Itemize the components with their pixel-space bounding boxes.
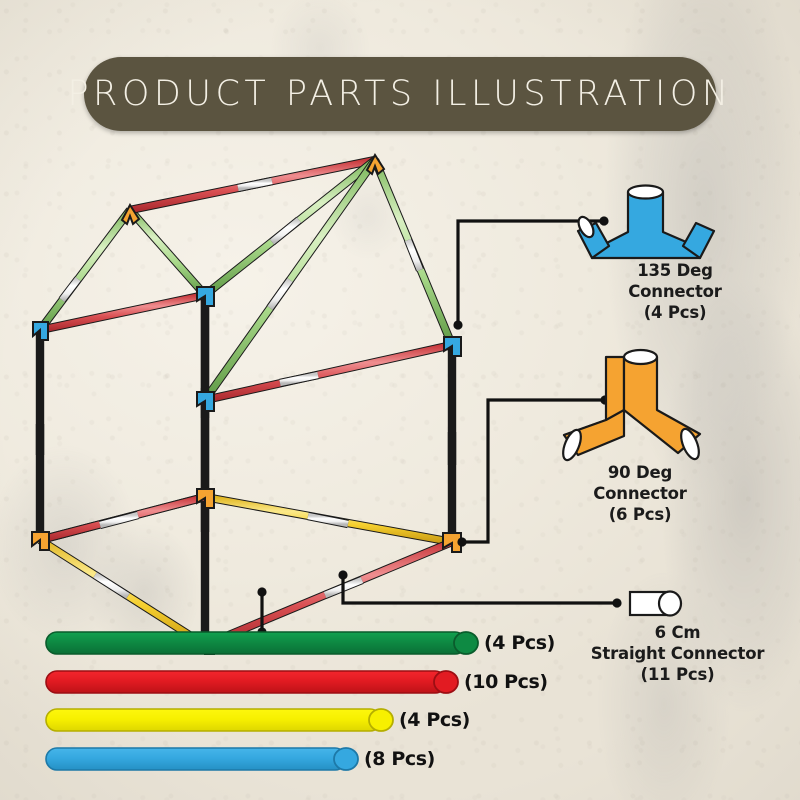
leader-dot: [257, 587, 266, 596]
label-135deg-connector: 135 Deg Connector (4 Pcs): [600, 260, 750, 323]
label-135deg-count: (4 Pcs): [600, 302, 750, 323]
legend-count-red: (10 Pcs): [464, 671, 548, 693]
base-beam-left-yellow: [40, 540, 205, 645]
product-parts-illustration-page: PRODUCT PARTS ILLUSTRATION: [0, 0, 800, 800]
straight-connector-joint: [95, 575, 128, 596]
leader-dot: [612, 598, 621, 607]
straight-connector-joint: [272, 220, 299, 242]
connector-node-90deg: [197, 489, 214, 508]
label-straight-count: (11 Pcs): [570, 664, 785, 685]
legend-count-blue: (8 Pcs): [364, 748, 435, 770]
connector-node-135deg: [33, 322, 48, 340]
label-135deg-line2: Connector: [600, 281, 750, 302]
label-135deg-line1: 135 Deg: [600, 260, 750, 281]
base-beam-front-red: [205, 542, 452, 645]
legend-rod-yellow: [46, 709, 393, 731]
leader-dot: [338, 570, 347, 579]
part-90deg-connector-graphic: [560, 350, 703, 462]
label-90deg-line2: Connector: [565, 483, 715, 504]
rafter-front-right: [375, 160, 452, 345]
legend-count-green: (4 Pcs): [484, 632, 555, 654]
rafter-back-right: [130, 210, 205, 295]
legend-rod-red: [46, 671, 458, 693]
label-90deg-connector: 90 Deg Connector (6 Pcs): [565, 462, 715, 525]
base-beam-mid: [40, 497, 205, 540]
leader-dot: [457, 537, 466, 546]
frame-back-assembly: [40, 210, 205, 540]
straight-connector-joint: [100, 515, 138, 525]
label-straight-line2: Straight Connector: [570, 643, 785, 664]
label-90deg-line1: 90 Deg: [565, 462, 715, 483]
straight-connector-joint: [408, 240, 420, 270]
straight-connector-joint: [270, 280, 290, 308]
leader-dot: [599, 216, 608, 225]
base-beam-right-yellow: [205, 497, 452, 542]
frame-base-assembly: [40, 497, 452, 645]
leader-lines: [257, 216, 621, 636]
legend-rod-blue: [46, 748, 358, 770]
label-straight-line1: 6 Cm: [570, 622, 785, 643]
label-straight-connector: 6 Cm Straight Connector (11 Pcs): [570, 622, 785, 685]
connector-node-135deg: [197, 287, 214, 306]
straight-connector-joint: [280, 375, 318, 383]
leader-line-straight: [343, 575, 617, 603]
legend-count-yellow: (4 Pcs): [399, 709, 470, 731]
part-straight-connector-graphic: [630, 592, 681, 616]
straight-connector-joint: [238, 181, 272, 188]
connector-node-135deg: [444, 337, 461, 356]
legend-rod-green: [46, 632, 478, 654]
leader-dot: [453, 320, 462, 329]
label-90deg-count: (6 Pcs): [565, 504, 715, 525]
connector-node-90deg: [32, 532, 49, 550]
straight-connector-joint: [308, 516, 348, 524]
connector-node-135deg: [197, 392, 214, 411]
